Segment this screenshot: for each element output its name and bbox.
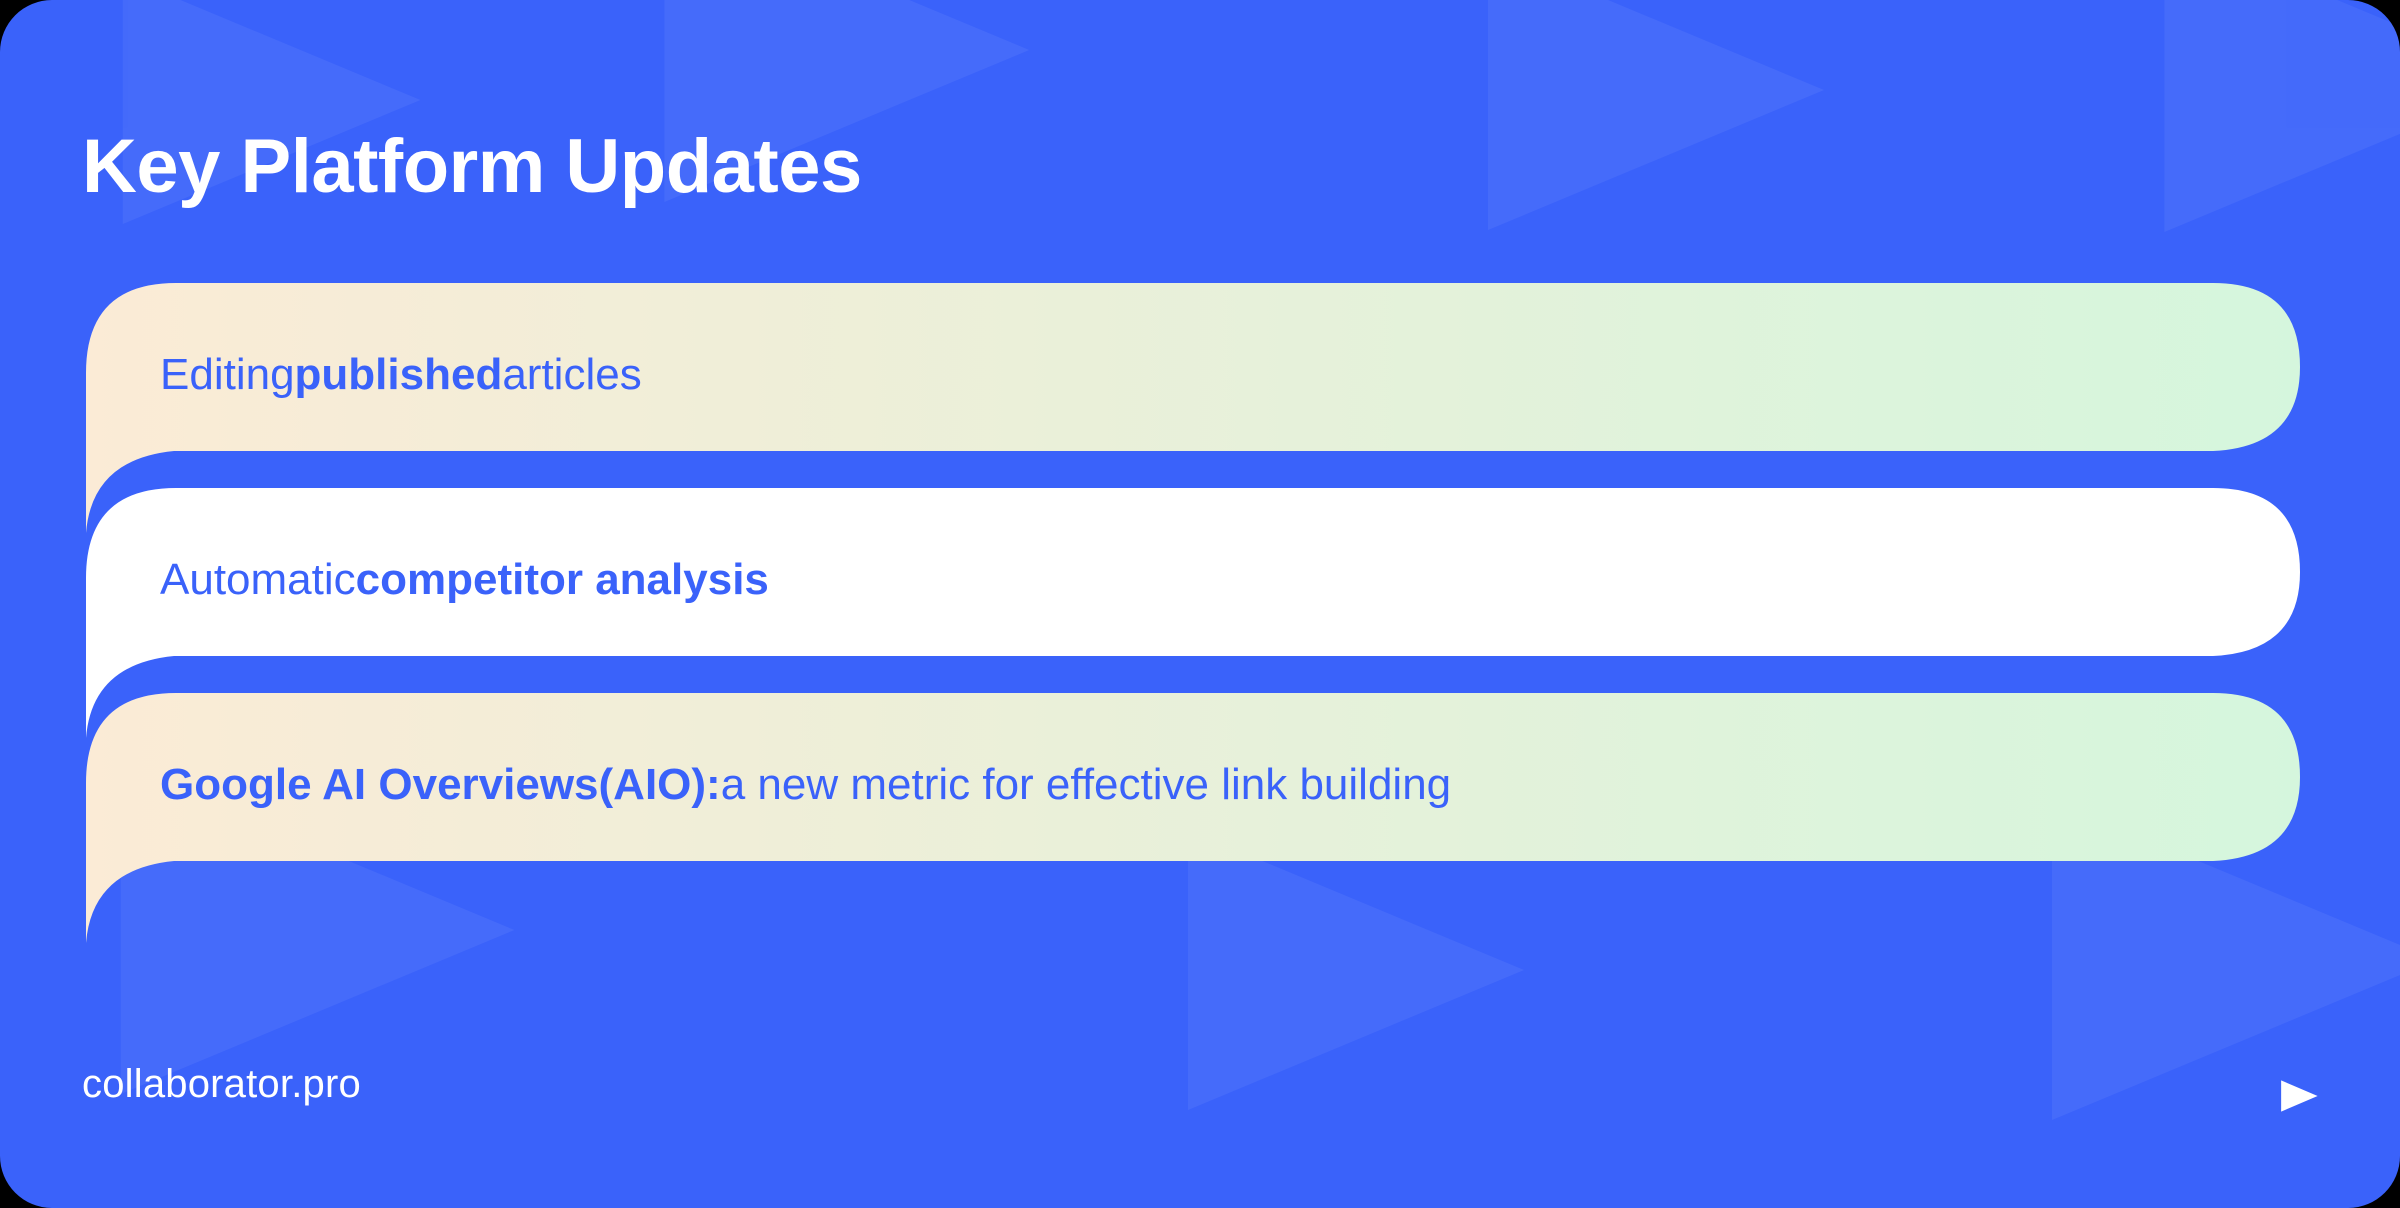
collaborator-c-arrow-logo-icon[interactable] (2254, 1068, 2320, 1124)
card-3-segment-0: Google AI Overviews(AIO): (160, 757, 721, 812)
page-title: Key Platform Updates (82, 125, 862, 209)
card-2-segment-0: Automatic (160, 552, 356, 607)
update-card-3[interactable]: Google AI Overviews(AIO): a new metric f… (82, 693, 2304, 875)
card-1-segment-0: Editing (160, 347, 295, 402)
update-card-1[interactable]: Editing published articles (82, 283, 2304, 465)
update-card-1-text: Editing published articles (160, 283, 642, 465)
update-card-2[interactable]: Automatic competitor analysis (82, 488, 2304, 670)
card-1-segment-2: articles (502, 347, 641, 402)
footer-website-url[interactable]: collaborator.pro (82, 1062, 361, 1107)
card-1-segment-1: published (295, 347, 503, 402)
update-card-3-text: Google AI Overviews(AIO): a new metric f… (160, 693, 1451, 875)
card-3-segment-1: a new metric for effective link building (721, 757, 1451, 812)
card-2-segment-1: competitor analysis (356, 552, 769, 607)
slide-canvas: Key Platform Updates Editing published a… (0, 0, 2400, 1208)
update-card-2-text: Automatic competitor analysis (160, 488, 769, 670)
